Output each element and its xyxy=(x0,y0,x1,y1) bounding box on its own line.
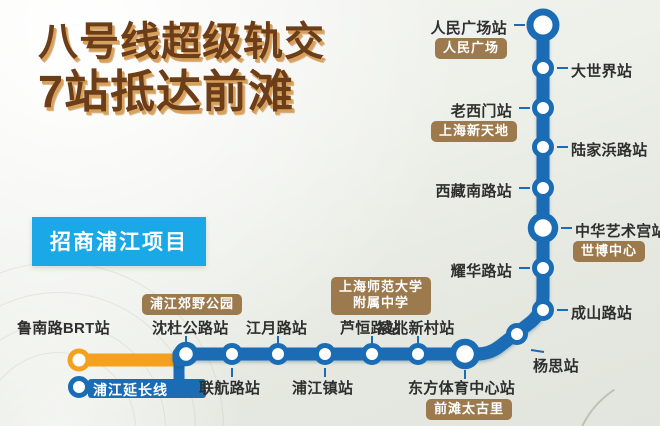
poi-badge-line-2: 附属中学 xyxy=(353,295,409,310)
station-marker-pujiangzhen xyxy=(317,346,334,363)
station-label-lujiabanglu: 陆家浜路站 xyxy=(571,139,648,160)
station-marker-renminguangchang xyxy=(530,12,556,38)
station-label-dashijie: 大世界站 xyxy=(571,60,632,81)
station-marker-luhenglu xyxy=(364,346,381,363)
station-label-luhenglu: 芦恒路站 xyxy=(340,317,401,338)
station-label-yangsi: 杨思站 xyxy=(533,355,579,376)
station-marker-shenduqonglu xyxy=(177,345,196,364)
station-label-shenduqonglu: 沈杜公路站 xyxy=(152,317,229,338)
station-label-renminguangchang: 人民广场站 xyxy=(430,17,507,38)
station-label-zhonghuayishugong: 中华艺术宫站 xyxy=(575,220,660,241)
station-label-dongfangtiyuzhongxin: 东方体育中心站 xyxy=(408,377,515,398)
metro-line-poster: 八号线超级轨交 7站抵达前滩 招商浦江项目 xyxy=(0,0,660,426)
station-marker-lingzhaoxincun xyxy=(410,346,427,363)
station-label-laoximen: 老西门站 xyxy=(451,100,512,121)
station-label-lianhanglu: 联航路站 xyxy=(199,377,260,398)
station-marker-lianhanglu xyxy=(224,346,241,363)
station-marker-dashijie xyxy=(535,60,552,77)
station-marker-laoximen xyxy=(535,100,552,117)
station-marker-lujiabanglu xyxy=(535,139,552,156)
poi-badge-pujiang-park: 浦江郊野公园 xyxy=(142,294,242,315)
poi-badge-shanghai-shifan: 上海师范大学 附属中学 xyxy=(331,277,431,315)
station-marker-yangsi xyxy=(509,326,526,343)
station-label-pujiangzhen: 浦江镇站 xyxy=(292,377,353,398)
station-marker-branch xyxy=(71,379,88,396)
station-marker-lunanlu-brt xyxy=(70,351,88,369)
station-label-chengshanlu: 成山路站 xyxy=(571,302,632,323)
station-marker-zhonghuayishugong xyxy=(531,216,555,240)
station-label-jiangyuelu: 江月路站 xyxy=(246,317,307,338)
branch-line-label: 浦江延长线 xyxy=(93,380,168,400)
station-marker-jiangyuelu xyxy=(270,346,287,363)
station-marker-yaohualu xyxy=(535,260,552,277)
poi-badge-shibozhongxin: 世博中心 xyxy=(573,241,645,262)
poi-badge-line-1: 上海师范大学 xyxy=(339,279,423,294)
poi-badge-qiantan-taikoo: 前滩太古里 xyxy=(426,399,512,420)
station-marker-chengshanlu xyxy=(535,302,552,319)
station-label-xizangnanlu: 西藏南路站 xyxy=(435,180,512,201)
station-markers xyxy=(70,12,556,396)
poi-badge-renminguangchang: 人民广场 xyxy=(435,38,507,59)
station-marker-xizangnanlu xyxy=(535,180,552,197)
station-label-yaohualu: 耀华路站 xyxy=(451,260,512,281)
station-marker-dongfangtiyuzhongxin xyxy=(453,342,477,366)
poi-badge-xintiandi: 上海新天地 xyxy=(431,121,517,142)
station-label-lunanlu-brt: 鲁南路BRT站 xyxy=(17,317,110,338)
